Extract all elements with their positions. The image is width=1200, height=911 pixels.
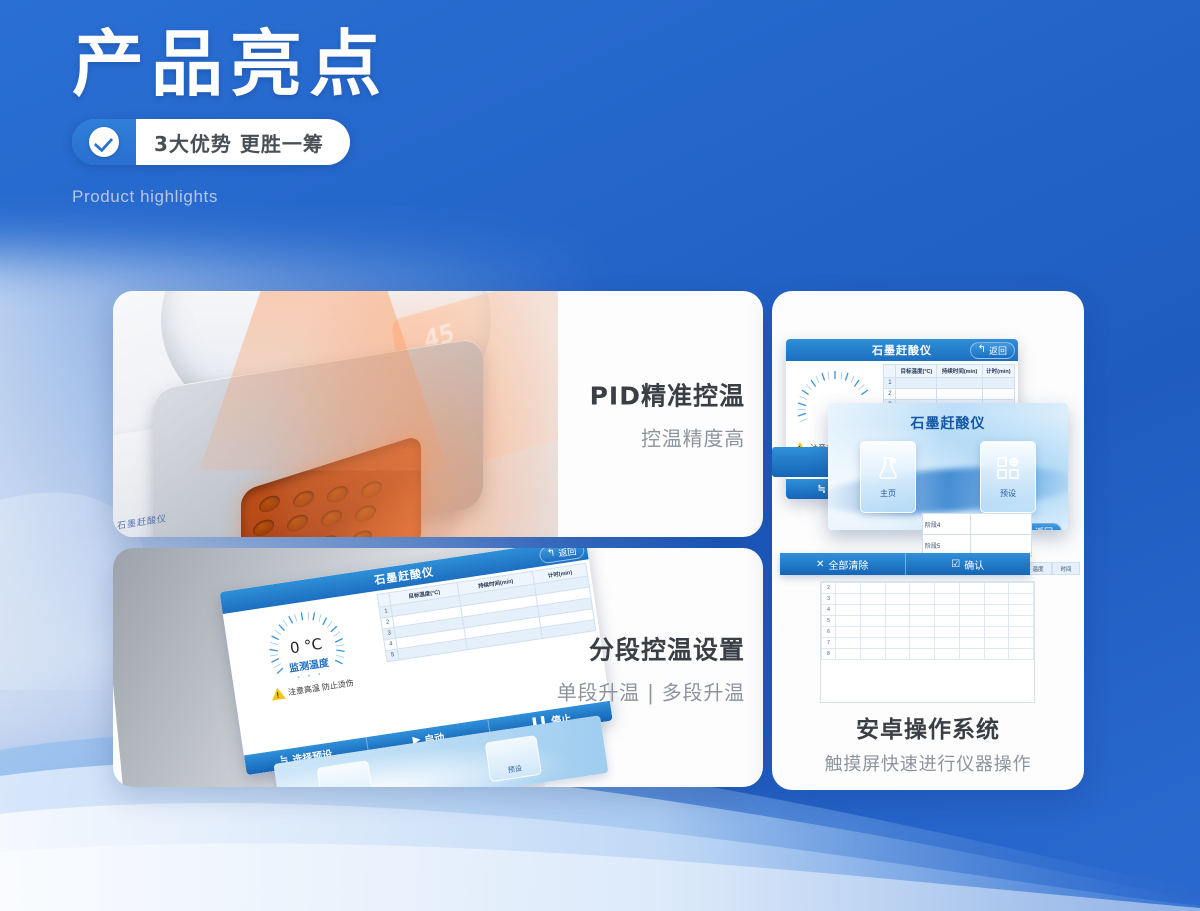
cell[interactable] (935, 649, 960, 660)
table-row: 5 (822, 616, 1034, 627)
cell[interactable] (910, 649, 935, 660)
cell[interactable] (935, 605, 960, 616)
screen-gauge-area: 0 °C 监测温度 • • • 注意高温 防止烫伤 (223, 591, 398, 755)
home-tile-preset[interactable]: 预设 (485, 735, 542, 782)
stage-table-header-row: 目标温度(°C) 持续时间(min) 计时(min) (884, 365, 1015, 378)
cell[interactable] (959, 616, 984, 627)
dialog-home-label: 主页 (880, 488, 896, 499)
table-row: 1 (884, 378, 1015, 389)
dialog-buttons: 主页 预设 (828, 441, 1068, 513)
cell[interactable] (984, 583, 1009, 594)
home-tile-preset-label: 预设 (507, 764, 522, 776)
cell[interactable] (959, 627, 984, 638)
cell[interactable] (836, 605, 861, 616)
cell[interactable] (910, 638, 935, 649)
cell[interactable] (910, 627, 935, 638)
card-segment-subheading: 单段升温 | 多段升温 (557, 676, 745, 705)
screen-back-label: 返回 (557, 548, 577, 559)
cell[interactable] (959, 649, 984, 660)
row-index: 5 (822, 616, 836, 627)
cell[interactable] (885, 594, 910, 605)
table-row: 3 (822, 594, 1034, 605)
card-segment-heading: 分段控温设置 (557, 630, 745, 666)
cell[interactable] (910, 583, 935, 594)
cell[interactable] (860, 638, 885, 649)
card-android-text: 安卓操作系统 触摸屏快速进行仪器操作 (772, 710, 1084, 776)
cell[interactable] (885, 616, 910, 627)
stage-table-index-header (884, 365, 896, 378)
table-row: 6 (822, 627, 1034, 638)
cell[interactable] (836, 583, 861, 594)
card-pid-subheading: 控温精度高 (590, 423, 745, 452)
cell[interactable] (860, 649, 885, 660)
cell[interactable] (836, 649, 861, 660)
clear-all-button[interactable]: ✕ 全部清除 (780, 553, 906, 575)
cell[interactable] (984, 638, 1009, 649)
cell[interactable] (1009, 638, 1034, 649)
check-circle-icon (89, 127, 119, 157)
cell[interactable] (1009, 649, 1034, 660)
screen-back-button[interactable]: ↰ 返回 (970, 342, 1015, 359)
grid-icon (996, 456, 1020, 480)
cell[interactable] (885, 583, 910, 594)
cell[interactable] (885, 627, 910, 638)
stage-list-box[interactable]: 阶段4 阶段5 (922, 513, 1032, 557)
cell[interactable] (885, 605, 910, 616)
arrow-back-icon: ↰ (978, 345, 986, 355)
page-title: 产品亮点 (72, 28, 692, 101)
confirm-label: 确认 (964, 557, 984, 572)
card-android-os: 石墨赶酸仪 ↰ 返回 (772, 291, 1084, 790)
dialog-home-button[interactable]: 主页 (860, 441, 916, 513)
stage-table-header-0: 目标温度(°C) (896, 365, 937, 378)
badge-icon-slot (72, 119, 136, 165)
cell[interactable] (885, 649, 910, 660)
cell[interactable] (935, 627, 960, 638)
cell[interactable] (860, 583, 885, 594)
cell[interactable] (935, 583, 960, 594)
stage-table-header-2: 计时(min) (982, 365, 1014, 378)
cell[interactable] (860, 616, 885, 627)
cell[interactable] (937, 389, 982, 400)
dialog-preset-label: 预设 (1000, 488, 1016, 499)
cell[interactable] (959, 594, 984, 605)
page-subtitle: Product highlights (72, 187, 692, 207)
card-segment-text: 分段控温设置 单段升温 | 多段升温 (557, 630, 745, 705)
row-index: 6 (822, 627, 836, 638)
arrow-back-icon: ↰ (546, 548, 556, 559)
cell[interactable] (910, 594, 935, 605)
cell[interactable] (984, 605, 1009, 616)
row-index: 2 (822, 583, 836, 594)
cell[interactable] (885, 638, 910, 649)
row-index: 8 (822, 649, 836, 660)
android-home-dialog[interactable]: 石墨赶酸仪 主页 (828, 403, 1068, 530)
card-android-subheading: 触摸屏快速进行仪器操作 (772, 750, 1084, 776)
cell[interactable] (959, 638, 984, 649)
product-photo-heating-block: 45 50 石墨赶酸仪 (113, 291, 558, 537)
highlight-badge: 3大优势 更胜一筹 (72, 119, 350, 165)
cell[interactable] (984, 627, 1009, 638)
cell[interactable] (836, 616, 861, 627)
table-row: 2 (822, 583, 1034, 594)
cell[interactable] (984, 649, 1009, 660)
cell[interactable] (959, 583, 984, 594)
cell[interactable] (910, 616, 935, 627)
screen-header: 石墨赶酸仪 ↰ 返回 (786, 339, 1018, 361)
cell[interactable] (860, 605, 885, 616)
temperature-gauge: 0 °C 监测温度 • • • (258, 601, 354, 685)
cell[interactable] (1009, 594, 1034, 605)
cell[interactable] (935, 616, 960, 627)
cell[interactable] (984, 594, 1009, 605)
card-pid-text: PID精准控温 控温精度高 (590, 377, 745, 452)
cell[interactable] (982, 378, 1014, 389)
stage-row-label: 阶段4 (923, 514, 971, 535)
row-index: 7 (822, 638, 836, 649)
table-row: 7 (822, 638, 1034, 649)
cell[interactable] (959, 605, 984, 616)
table-row: 8 (822, 649, 1034, 660)
dialog-title: 石墨赶酸仪 (828, 413, 1068, 433)
cell[interactable] (910, 605, 935, 616)
dialog-back-label: 返回 (1035, 525, 1053, 530)
cell[interactable] (1009, 627, 1034, 638)
table-row: 2 (884, 389, 1015, 400)
confirm-button[interactable]: ☑ 确认 (906, 553, 1031, 575)
close-x-icon: ✕ (816, 559, 824, 570)
cell[interactable] (935, 638, 960, 649)
cell[interactable] (1009, 616, 1034, 627)
row-index: 4 (822, 605, 836, 616)
preset-mini-header: 温度 时间 (1024, 562, 1080, 575)
card-segmented-temperature: 石墨赶酸仪 ↰ 返回 (113, 548, 763, 787)
cell[interactable] (860, 594, 885, 605)
cell[interactable] (836, 594, 861, 605)
cell[interactable] (860, 627, 885, 638)
cell[interactable] (896, 389, 937, 400)
card-pid-heading: PID精准控温 (590, 377, 745, 413)
row-index: 2 (884, 389, 896, 400)
cell[interactable] (836, 638, 861, 649)
card-pid-temperature-control: 45 50 石墨赶酸仪 PID精准控温 控温精度高 (113, 291, 763, 537)
cell[interactable] (971, 514, 1031, 535)
badge-label: 3大优势 更胜一筹 (136, 119, 350, 165)
row-index: 3 (822, 594, 836, 605)
stage-table-header-1: 持续时间(min) (937, 365, 982, 378)
cell[interactable] (982, 389, 1014, 400)
clear-all-label: 全部清除 (828, 557, 868, 572)
preset-action-row: ✕ 全部清除 ☑ 确认 (780, 553, 1030, 575)
card-android-heading: 安卓操作系统 (772, 710, 1084, 744)
dialog-preset-button[interactable]: 预设 (980, 441, 1036, 513)
mini-header-time: 时间 (1052, 562, 1080, 575)
cell[interactable] (1009, 605, 1034, 616)
table-row: 阶段4 (923, 514, 1031, 535)
cell[interactable] (935, 594, 960, 605)
screen-back-label: 返回 (989, 344, 1007, 357)
row-index: 1 (884, 378, 896, 389)
check-box-icon: ☑ (951, 559, 960, 570)
cell[interactable] (984, 616, 1009, 627)
sliders-icon: ≒ (818, 484, 826, 495)
flask-icon (877, 456, 899, 480)
cell[interactable] (1009, 583, 1034, 594)
cell[interactable] (836, 627, 861, 638)
warning-triangle-icon (270, 687, 286, 701)
page-header: 产品亮点 3大优势 更胜一筹 Product highlights (72, 28, 692, 207)
screen-title: 石墨赶酸仪 (872, 342, 932, 358)
cell[interactable] (896, 378, 937, 389)
preset-grid-table[interactable]: 2 3 4 5 6 7 8 (820, 581, 1035, 703)
cell[interactable] (937, 378, 982, 389)
table-row: 4 (822, 605, 1034, 616)
